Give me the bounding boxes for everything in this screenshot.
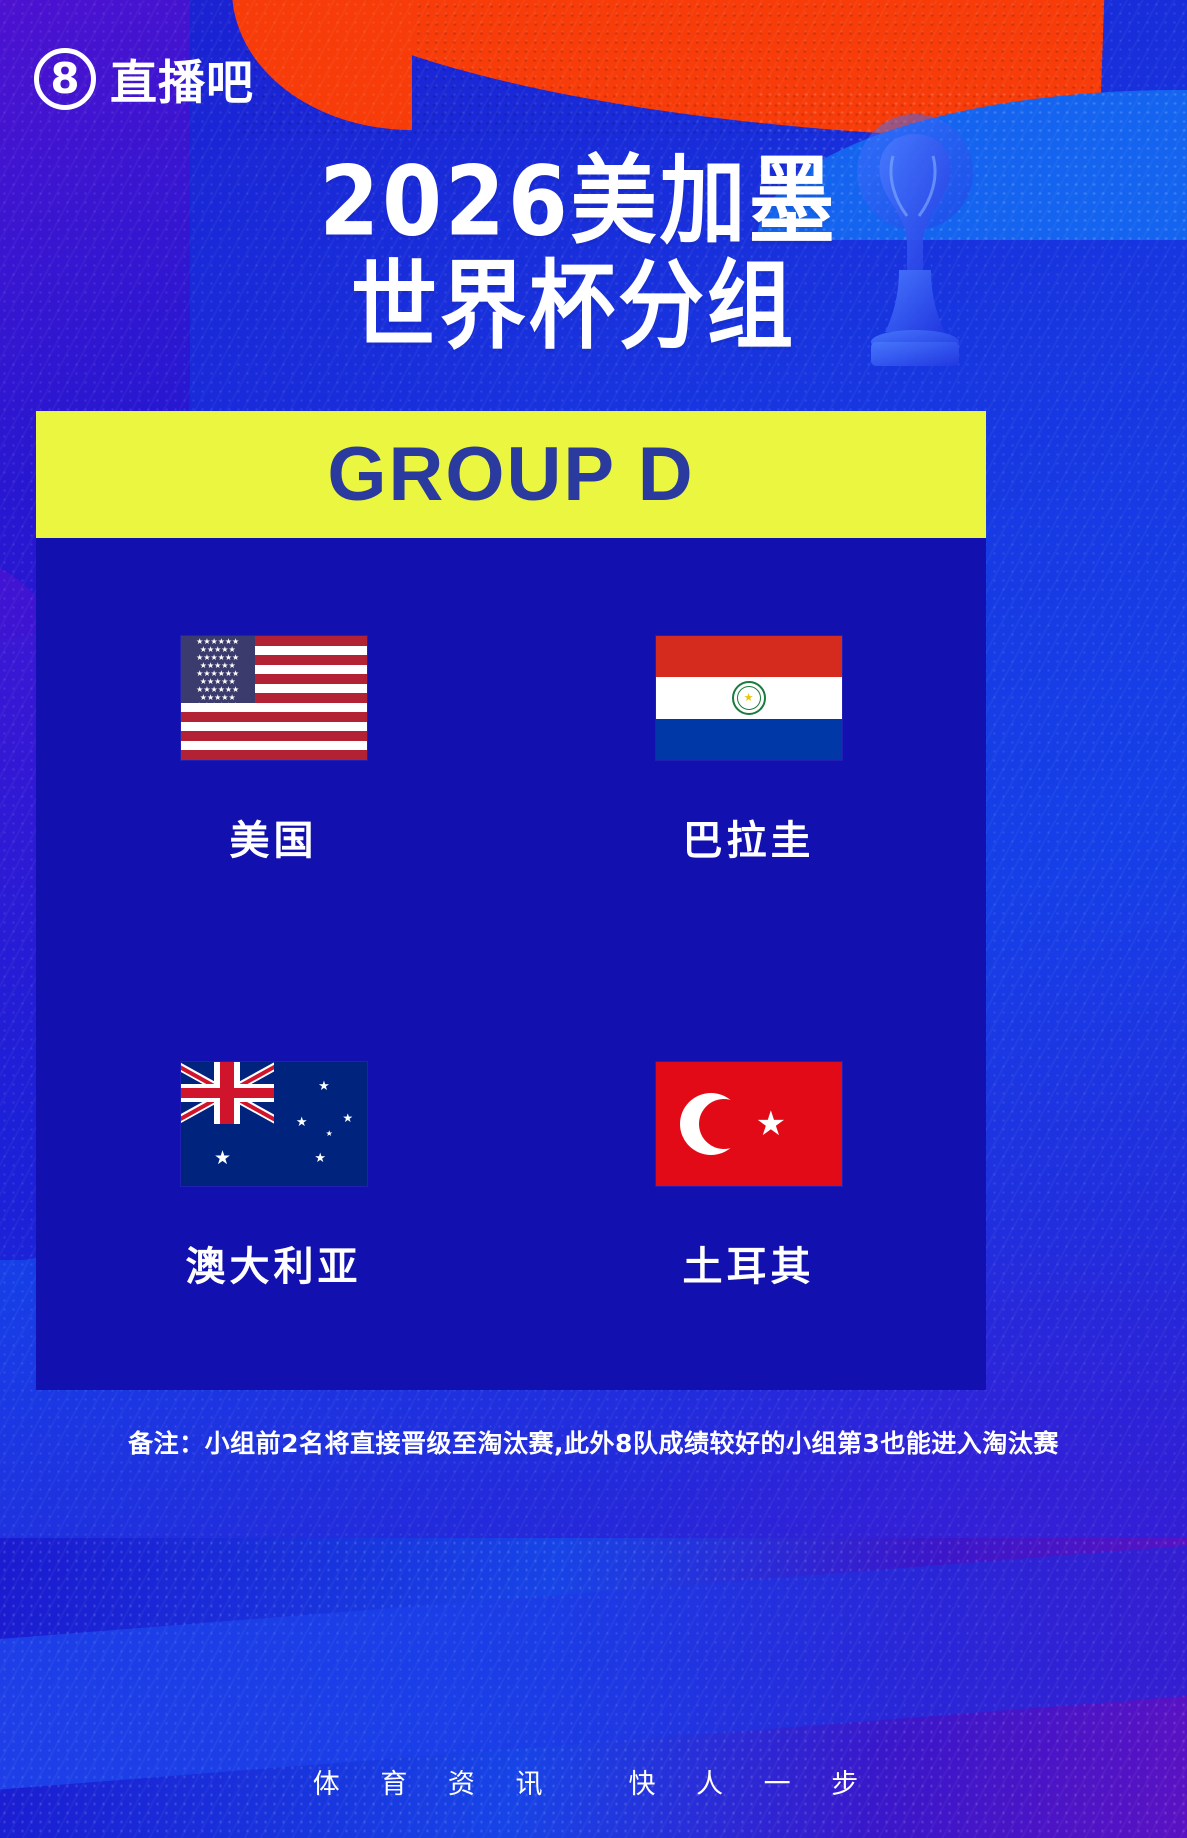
paraguay-emblem-icon: ★ — [732, 681, 766, 715]
us-canton: ★★★★★★ ★★★★★ ★★★★★★ ★★★★★ ★★★★★★ ★★★★★ ★… — [181, 636, 255, 703]
turkey-field: ★ — [656, 1062, 842, 1186]
crescent-inner-icon — [699, 1099, 749, 1149]
star-alpha-crucis-icon: ★ — [314, 1151, 326, 1164]
paraguay-blue-band — [656, 719, 842, 760]
star-gamma-crucis-icon: ★ — [318, 1079, 330, 1092]
turkey-star-icon: ★ — [756, 1107, 786, 1141]
turkey-flag: ★ — [656, 1062, 842, 1186]
australia-flag: ★ ★ ★ ★ ★ ★ — [181, 1062, 367, 1186]
logo-text: 直播吧 — [110, 44, 254, 113]
poster-canvas: 8 直播吧 2026美加墨 世界杯分组 GROUP D ★★★★★★ — [0, 0, 1187, 1838]
us-flag: ★★★★★★ ★★★★★ ★★★★★★ ★★★★★ ★★★★★★ ★★★★★ ★… — [181, 636, 367, 760]
commonwealth-star-icon: ★ — [214, 1149, 231, 1168]
poster-title: 2026美加墨 世界杯分组 — [0, 150, 1187, 360]
footer-note: 备注：小组前2名将直接晋级至淘汰赛,此外8队成绩较好的小组第3也能进入淘汰赛 — [0, 1424, 1187, 1460]
group-label: GROUP D — [327, 431, 694, 518]
star-delta-crucis-icon: ★ — [342, 1112, 353, 1124]
team-name: 美国 — [230, 808, 318, 866]
paraguay-red-band — [656, 636, 842, 677]
team-name: 巴拉圭 — [683, 808, 815, 866]
paraguay-flag: ★ — [656, 636, 842, 760]
union-jack-icon — [181, 1062, 274, 1124]
star-beta-crucis-icon: ★ — [296, 1115, 308, 1128]
title-line-2: 世界杯分组 — [0, 249, 1187, 366]
team-name: 土耳其 — [683, 1234, 815, 1292]
australia-field: ★ ★ ★ ★ ★ ★ — [181, 1062, 367, 1186]
group-banner: GROUP D — [36, 411, 986, 538]
teams-panel: ★★★★★★ ★★★★★ ★★★★★★ ★★★★★ ★★★★★★ ★★★★★ ★… — [36, 538, 986, 1390]
title-line-1: 2026美加墨 — [0, 144, 1187, 261]
footer-tagline: 体 育 资 讯 快 人 一 步 — [0, 1762, 1187, 1801]
team-name: 澳大利亚 — [186, 1234, 362, 1292]
team-cell-australia[interactable]: ★ ★ ★ ★ ★ ★ 澳大利亚 — [36, 964, 511, 1390]
team-cell-turkey[interactable]: ★ 土耳其 — [511, 964, 986, 1390]
teams-grid: ★★★★★★ ★★★★★ ★★★★★★ ★★★★★ ★★★★★★ ★★★★★ ★… — [36, 538, 986, 1390]
tagline-left: 体 育 资 讯 — [313, 1762, 559, 1801]
team-cell-paraguay[interactable]: ★ 巴拉圭 — [511, 538, 986, 964]
circle-eight-icon: 8 — [34, 48, 96, 110]
site-logo[interactable]: 8 直播吧 — [34, 44, 254, 113]
team-cell-usa[interactable]: ★★★★★★ ★★★★★ ★★★★★★ ★★★★★ ★★★★★★ ★★★★★ ★… — [36, 538, 511, 964]
tagline-right: 快 人 一 步 — [629, 1762, 875, 1801]
star-epsilon-crucis-icon: ★ — [326, 1130, 333, 1138]
